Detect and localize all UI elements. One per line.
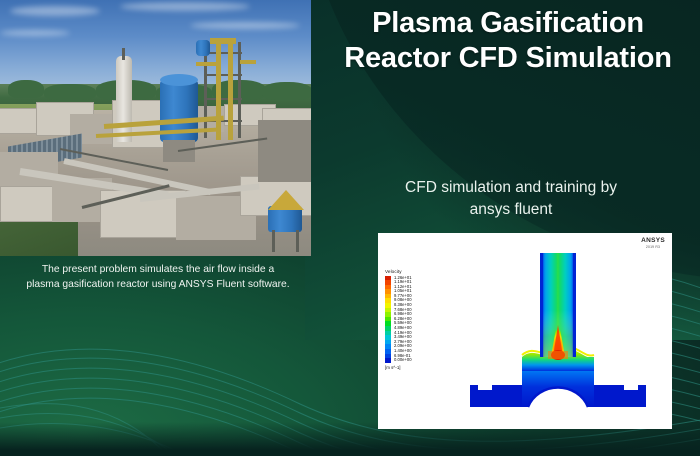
photo-caption: The present problem simulates the air fl… [4,263,312,293]
photo-cloud [120,2,250,11]
title-line-1: Plasma Gasification [322,6,694,41]
subtitle-line-2: ansys fluent [356,199,666,221]
subtitle-line-1: CFD simulation and training by [356,177,666,199]
photo-tree [262,82,311,100]
photo-tree [44,84,96,100]
photo-tree [8,80,44,98]
slide-title: Plasma Gasification Reactor CFD Simulati… [322,6,694,77]
photo-yellow-pipe [196,62,218,66]
photo-steel-beam [204,98,242,100]
caption-line-2: plasma gasification reactor using ANSYS … [4,278,312,293]
photo-mast [122,48,125,60]
contour-riser-wall-l [540,253,543,357]
photo-cloud [190,22,300,29]
photo-building [0,108,40,134]
ansys-logo-text: ANSYS [641,238,665,245]
photo-blue-tank-top [160,74,198,86]
reactor-velocity-contour [458,247,658,423]
photo-silo-leg [272,230,275,252]
photo-yellow-pipe [228,44,233,140]
photo-yellow-pipe [240,60,256,64]
contour-throat [548,351,568,359]
photo-steel-column [238,42,241,138]
legend-colorbar [385,276,391,363]
velocity-legend: Velocity 1.26e+011.19e+011.12e+011.05e+0… [385,269,447,370]
plant-photo [0,0,311,256]
contour-right-arm [594,385,646,407]
contour-left-arm [470,385,522,407]
cfd-contour-panel: ANSYS 2019 R3 Velocity 1.26e+011.19e+011… [378,233,672,429]
photo-silo-cone [266,190,306,210]
legend-unit: [m s^-1] [385,365,447,370]
photo-building [258,120,311,182]
photo-cloud [10,6,100,16]
photo-silo-leg [296,230,299,252]
photo-steel-beam [204,74,242,76]
photo-yellow-pipe [216,44,221,140]
title-line-2: Reactor CFD Simulation [322,41,694,76]
contour-riser-wall-r [573,253,576,357]
reactor-contour-plot [458,247,658,423]
caption-line-1: The present problem simulates the air fl… [4,263,312,278]
legend-tick-labels: 1.26e+011.19e+011.12e+011.05e+019.77e+00… [394,276,412,363]
legend-title: Velocity [385,269,447,274]
legend-tick-label: 0.00e+00 [394,358,412,363]
slide-canvas: Plasma Gasification Reactor CFD Simulati… [0,0,700,456]
photo-cloud [0,30,70,36]
photo-blue-unit [196,40,210,56]
legend-color-swatch [385,358,391,363]
photo-tower [116,56,132,142]
slide-subtitle: CFD simulation and training by ansys flu… [356,177,666,222]
